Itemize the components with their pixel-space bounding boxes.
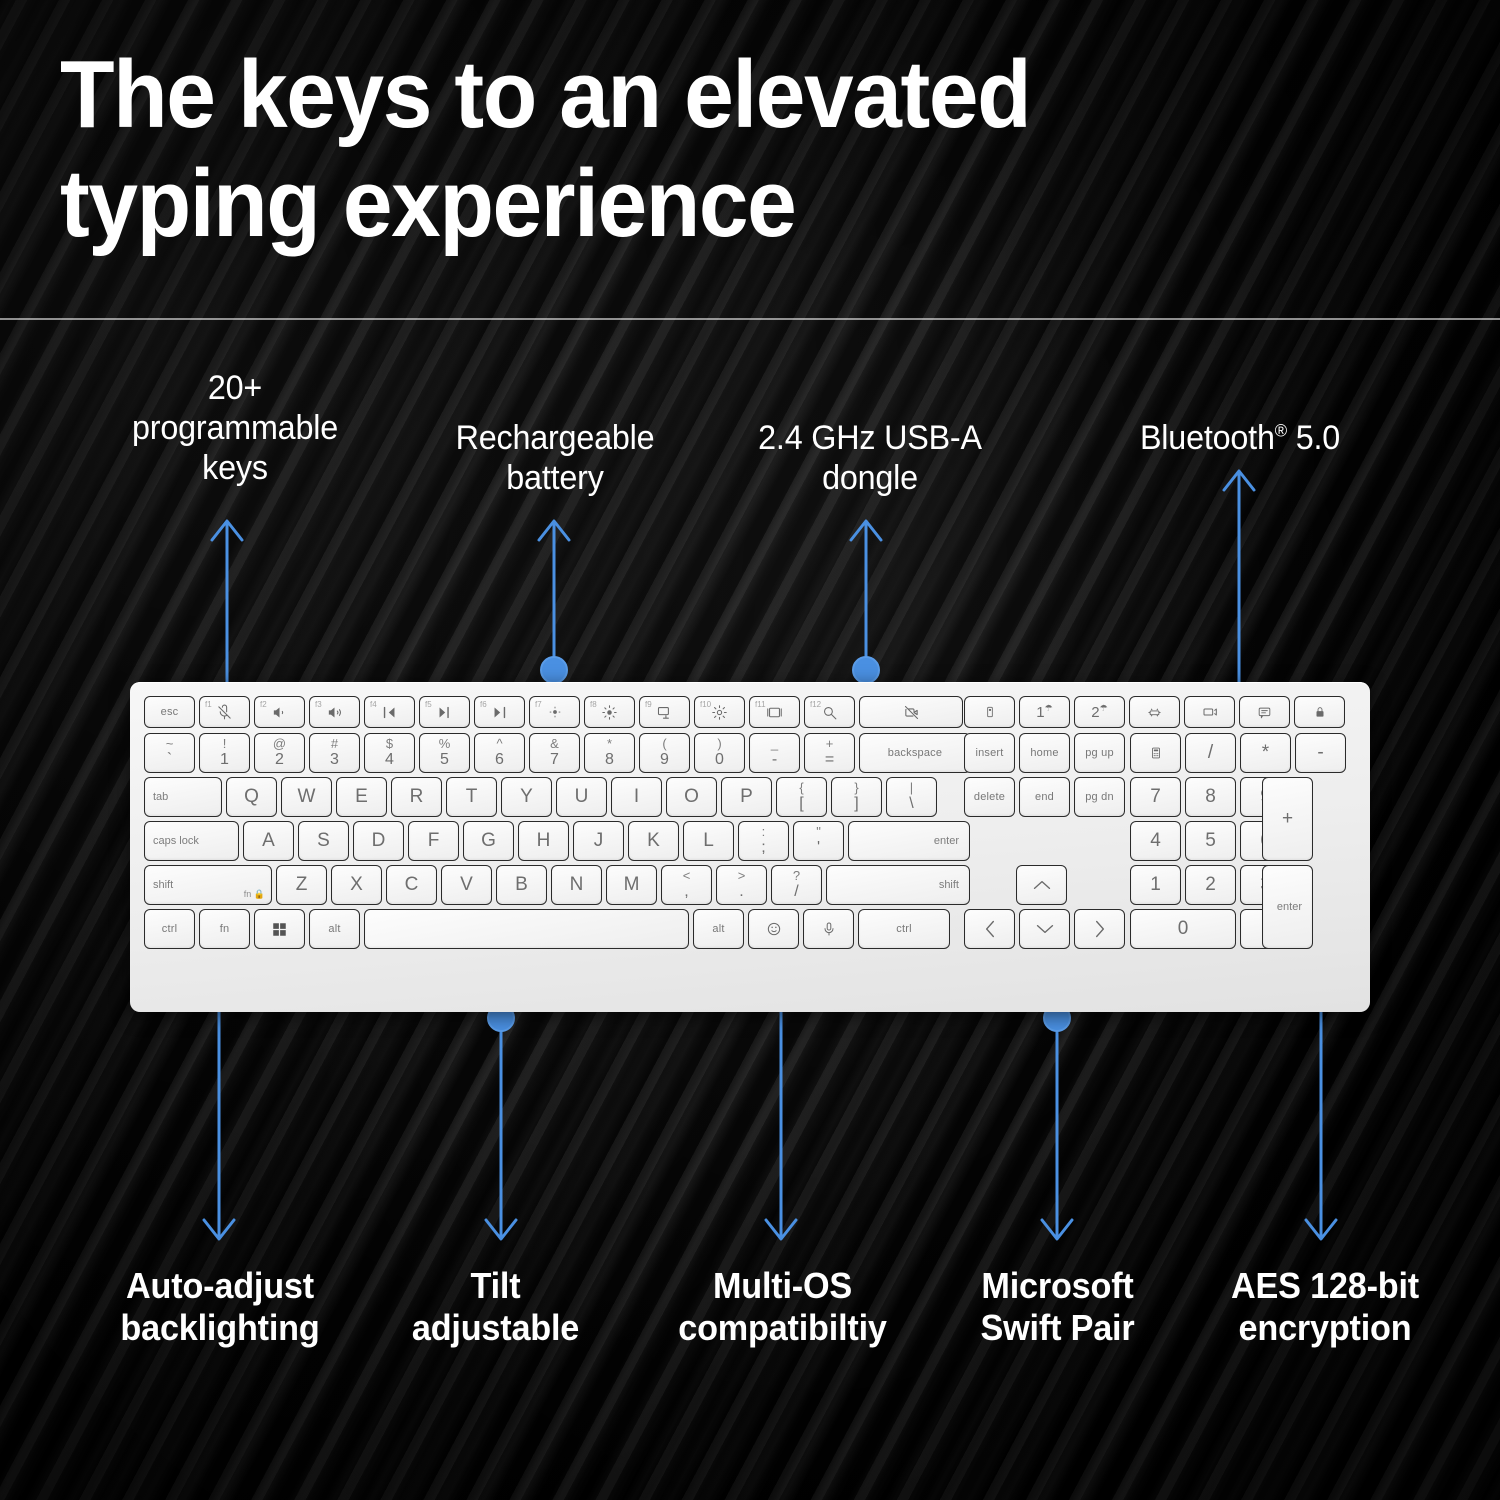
microphone-icon	[821, 921, 837, 937]
key--[interactable]: _-	[749, 733, 800, 773]
fn-label: f1	[205, 700, 212, 709]
key-legend-bottom: 6	[495, 752, 504, 769]
key-letter: 4	[1150, 830, 1161, 852]
key-letter: F	[428, 830, 440, 852]
keyboard-nav-row-insert: inserthomepg up	[964, 733, 1125, 773]
backlight-icon	[1147, 705, 1162, 720]
key-legend-top: $	[386, 737, 393, 751]
key-G[interactable]: G	[463, 821, 514, 861]
key-legend-top: |	[910, 781, 913, 795]
key-label: esc	[161, 706, 179, 718]
key-f5[interactable]: f5	[419, 696, 470, 728]
key-letter: 1	[1150, 874, 1161, 896]
key-label: pg dn	[1085, 791, 1114, 803]
key-arrow-down[interactable]	[1019, 909, 1070, 949]
key-I[interactable]: I	[611, 777, 662, 817]
key-1[interactable]: !1	[199, 733, 250, 773]
windows-icon	[272, 922, 287, 937]
key-arrow-left[interactable]	[964, 909, 1015, 949]
mic-mute-icon	[216, 704, 233, 721]
key-letter: -	[1317, 742, 1323, 764]
key-enter[interactable]: enter	[848, 821, 970, 861]
key-legend-bottom: /	[794, 884, 798, 901]
key-letter: G	[481, 830, 496, 852]
key-letter: 8	[1205, 786, 1216, 808]
key-label: pg up	[1085, 747, 1114, 759]
key-legend-top: "	[816, 825, 821, 839]
key-legend-bottom: ,	[684, 884, 688, 901]
key-X[interactable]: X	[331, 865, 382, 905]
key-numpad-*[interactable]: *	[1240, 733, 1291, 773]
key-legend-top: &	[550, 737, 559, 751]
brightness-down-icon	[548, 705, 562, 719]
key-letter: V	[460, 874, 473, 896]
key-[[interactable]: {[	[776, 777, 827, 817]
key-W[interactable]: W	[281, 777, 332, 817]
key-legend-top: @	[273, 737, 286, 751]
key-S[interactable]: S	[298, 821, 349, 861]
key-semicolon[interactable]: :;	[738, 821, 789, 861]
usb-dongle-icon	[983, 705, 997, 719]
key-numpad-1[interactable]: 1	[1130, 865, 1181, 905]
key-4[interactable]: $4	[364, 733, 415, 773]
key-letter: *	[1262, 742, 1269, 764]
key-legend-top: (	[662, 737, 666, 751]
key-7[interactable]: &7	[529, 733, 580, 773]
key-N[interactable]: N	[551, 865, 602, 905]
key-chat-icon[interactable]	[1239, 696, 1290, 728]
key-end[interactable]: end	[1019, 777, 1070, 817]
key-shift-left[interactable]: shiftfn 🔒	[144, 865, 272, 905]
key-legend-top: ^	[496, 737, 502, 751]
fn-label: f6	[480, 700, 487, 709]
key-letter: P	[740, 786, 753, 808]
key-legend-top: ?	[793, 869, 800, 883]
key-letter: 2	[1205, 874, 1216, 896]
keyboard-bottom-row: ctrlfnaltaltctrl	[144, 909, 950, 949]
key-f12[interactable]: f12	[804, 696, 855, 728]
next-track-icon	[491, 704, 508, 721]
callout-microsoft-swift-pair: Microsoft Swift Pair	[955, 1265, 1159, 1350]
key-delete[interactable]: delete	[964, 777, 1015, 817]
key-letter: H	[537, 830, 551, 852]
key-label: insert	[975, 747, 1003, 759]
key-f6[interactable]: f6	[474, 696, 525, 728]
key-legend-top: )	[717, 737, 721, 751]
key-legend-top: #	[331, 737, 338, 751]
header-divider	[0, 318, 1500, 320]
key-letter: S	[317, 830, 330, 852]
key-O[interactable]: O	[666, 777, 717, 817]
key-numpad-8[interactable]: 8	[1185, 777, 1236, 817]
previous-track-icon	[381, 704, 398, 721]
key-label: ctrl	[162, 923, 177, 935]
key-pg-up[interactable]: pg up	[1074, 733, 1125, 773]
key-usb-dongle-icon[interactable]	[964, 696, 1015, 728]
numpad-plus-key: +	[1262, 777, 1313, 861]
key-microphone-icon[interactable]	[803, 909, 854, 949]
key-ctrl-8[interactable]: ctrl	[858, 909, 950, 949]
key-K[interactable]: K	[628, 821, 679, 861]
key-legend-top: }	[854, 781, 858, 795]
key-legend-top: !	[223, 737, 227, 751]
callout-bluetooth: Bluetooth® 5.0	[1098, 418, 1383, 458]
key-letter: Q	[244, 786, 259, 808]
key-.[interactable]: >.	[716, 865, 767, 905]
arrow-left-icon	[983, 919, 997, 939]
key-label: fn	[220, 923, 230, 935]
key-legend-top: {	[799, 781, 803, 795]
key-numpad-calculator[interactable]	[1130, 733, 1181, 773]
screen-share-icon	[656, 704, 673, 721]
key-f1[interactable]: f1	[199, 696, 250, 728]
gear-icon	[711, 704, 728, 721]
key-letter: T	[466, 786, 478, 808]
key-2[interactable]: @2	[254, 733, 305, 773]
key-6[interactable]: ^6	[474, 733, 525, 773]
key-pg-dn[interactable]: pg dn	[1074, 777, 1125, 817]
camera-mute-icon	[903, 704, 920, 721]
keyboard-number-row: ~`!1@2#3$4%5^6&7*8(9)0_-+=backspace	[144, 733, 971, 773]
key-5[interactable]: %5	[419, 733, 470, 773]
arrow-up-icon	[1032, 878, 1052, 892]
numpad-row-operators: /*-	[1130, 733, 1346, 773]
screenshot-icon	[1202, 704, 1218, 720]
key-legend-top: +	[826, 737, 834, 751]
fn-label: f11	[755, 700, 766, 709]
key-letter: K	[647, 830, 660, 852]
key-numpad-0[interactable]: 0	[1130, 909, 1236, 949]
key-M[interactable]: M	[606, 865, 657, 905]
key-backspace[interactable]: backspace	[859, 733, 971, 773]
key-legend-bottom: =	[825, 752, 834, 769]
key-letter: X	[350, 874, 363, 896]
key-f8[interactable]: f8	[584, 696, 635, 728]
key-numpad-2[interactable]: 2	[1185, 865, 1236, 905]
key-label: alt	[712, 923, 724, 935]
key-letter: 7	[1150, 786, 1161, 808]
key-label: 1☂	[1036, 703, 1052, 721]
key-F[interactable]: F	[408, 821, 459, 861]
key-letter: U	[575, 786, 589, 808]
key-legend-top: <	[683, 869, 691, 883]
key-label: delete	[974, 791, 1005, 803]
key-emoji-icon[interactable]	[748, 909, 799, 949]
key-letter: J	[594, 830, 604, 852]
arrow-down-icon	[1035, 922, 1055, 936]
key-=[interactable]: +=	[804, 733, 855, 773]
arrow-right-icon	[1093, 919, 1107, 939]
callout-programmable-keys: 20+ programmable keys	[97, 368, 373, 488]
key-legend-bottom: 5	[440, 752, 449, 769]
key-legend-bottom: \	[909, 796, 913, 813]
key-f10[interactable]: f10	[694, 696, 745, 728]
key-numpad-enter[interactable]: enter	[1262, 865, 1313, 949]
key-legend-bottom: .	[739, 884, 743, 901]
callout-usb-a-dongle: 2.4 GHz USB-A dongle	[728, 418, 1013, 498]
calculator-icon	[1149, 746, 1163, 760]
key-spacebar[interactable]	[364, 909, 689, 949]
key-bt-1[interactable]: 1☂	[1019, 696, 1070, 728]
key-letter: D	[372, 830, 386, 852]
key-letter: +	[1282, 808, 1293, 830]
keyboard-shift-row: shiftfn 🔒ZXCVBNM<,>.?/shift	[144, 865, 970, 905]
key-legend-bottom: -	[772, 752, 777, 769]
volume-down-icon	[271, 704, 288, 721]
key-shift-right[interactable]: shift	[826, 865, 970, 905]
key-letter: 0	[1178, 918, 1189, 940]
key-legend-top: *	[607, 737, 612, 751]
key-Z[interactable]: Z	[276, 865, 327, 905]
key-legend-bottom: 0	[715, 752, 724, 769]
key-P[interactable]: P	[721, 777, 772, 817]
callout-aes-encryption: AES 128-bit encryption	[1211, 1265, 1439, 1350]
key-letter: L	[703, 830, 714, 852]
key-numpad-7[interactable]: 7	[1130, 777, 1181, 817]
keyboard-function-row-right: 1☂2☂	[964, 696, 1345, 728]
key-alt-5[interactable]: alt	[693, 909, 744, 949]
chat-icon	[1257, 705, 1272, 720]
key-f9[interactable]: f9	[639, 696, 690, 728]
display-icon	[766, 704, 783, 721]
key-label: ctrl	[896, 923, 911, 935]
key-L[interactable]: L	[683, 821, 734, 861]
key-windows-icon[interactable]	[254, 909, 305, 949]
keyboard-arrow-cluster	[964, 909, 1125, 949]
emoji-icon	[766, 921, 782, 937]
key-V[interactable]: V	[441, 865, 492, 905]
key-legend-bottom: 9	[660, 752, 669, 769]
key-letter: /	[1208, 742, 1213, 764]
page-title: The keys to an elevated typing experienc…	[60, 40, 1157, 259]
volume-up-icon	[326, 704, 343, 721]
key-D[interactable]: D	[353, 821, 404, 861]
key-label: caps lock	[153, 835, 199, 847]
key-legend-bottom: 4	[385, 752, 394, 769]
fn-label: f3	[315, 700, 322, 709]
fn-label: f2	[260, 700, 267, 709]
key-label: backspace	[888, 747, 942, 759]
callout-auto-adjust-backlighting: Auto-adjust backlighting	[101, 1265, 339, 1350]
fn-label: f4	[370, 700, 377, 709]
key-A[interactable]: A	[243, 821, 294, 861]
key-numpad-plus[interactable]: +	[1262, 777, 1313, 861]
key-arrow-up[interactable]	[1016, 865, 1067, 905]
key-letter: Y	[520, 786, 533, 808]
key-camera-mute-icon[interactable]	[859, 696, 963, 728]
key-letter: Z	[296, 874, 308, 896]
keyboard-product-image: escf1f2f3f4f5f6f7f8f9f10f11f12 1☂2☂ ~`!1…	[130, 682, 1370, 1012]
key-corner-label: fn 🔒	[244, 889, 265, 900]
key-label: shift	[153, 879, 173, 891]
key-legend-top: :	[762, 825, 766, 839]
key-legend-bottom: 1	[220, 752, 229, 769]
key-3[interactable]: #3	[309, 733, 360, 773]
key-9[interactable]: (9	[639, 733, 690, 773]
key-tab[interactable]: tab	[144, 777, 222, 817]
callout-rechargeable-battery: Rechargeable battery	[417, 418, 693, 498]
key-][interactable]: }]	[831, 777, 882, 817]
key-0[interactable]: )0	[694, 733, 745, 773]
product-feature-infographic: The keys to an elevated typing experienc…	[0, 0, 1500, 1500]
key-legend-top: >	[738, 869, 746, 883]
key-f3[interactable]: f3	[309, 696, 360, 728]
key-legend-top: %	[439, 737, 451, 751]
key-H[interactable]: H	[518, 821, 569, 861]
key-f11[interactable]: f11	[749, 696, 800, 728]
key-label: enter	[1277, 901, 1302, 913]
keyboard-qwerty-row: tabQWERTYUIOP{[}]|\	[144, 777, 937, 817]
fn-label: f10	[700, 700, 711, 709]
key-legend-top: _	[771, 737, 778, 751]
key-fn-1[interactable]: fn	[199, 909, 250, 949]
key-T[interactable]: T	[446, 777, 497, 817]
key-lock-icon[interactable]	[1294, 696, 1345, 728]
key-letter: C	[405, 874, 419, 896]
key-numpad-4[interactable]: 4	[1130, 821, 1181, 861]
key-letter: R	[410, 786, 424, 808]
fn-label: f7	[535, 700, 542, 709]
keyboard-arrow-up	[1016, 865, 1067, 905]
fn-label: f9	[645, 700, 652, 709]
key-ctrl-0[interactable]: ctrl	[144, 909, 195, 949]
key-`[interactable]: ~`	[144, 733, 195, 773]
key-legend-bottom: 7	[550, 752, 559, 769]
key-numpad-/[interactable]: /	[1185, 733, 1236, 773]
callout-tilt-adjustable: Tilt adjustable	[393, 1265, 597, 1350]
key-quote[interactable]: "'	[793, 821, 844, 861]
key-B[interactable]: B	[496, 865, 547, 905]
key-8[interactable]: *8	[584, 733, 635, 773]
callout-multi-os-compatibility: Multi-OS compatibiltiy	[661, 1265, 903, 1350]
key-label: end	[1035, 791, 1054, 803]
key-Y[interactable]: Y	[501, 777, 552, 817]
key-f2[interactable]: f2	[254, 696, 305, 728]
key-J[interactable]: J	[573, 821, 624, 861]
key-\[interactable]: |\	[886, 777, 937, 817]
key-legend-bottom: `	[167, 752, 172, 769]
key-E[interactable]: E	[336, 777, 387, 817]
key-letter: A	[262, 830, 275, 852]
numpad-enter-key: enter	[1262, 865, 1313, 949]
search-icon	[821, 704, 838, 721]
keyboard-home-row: caps lockASDFGHJKL:;"'enter	[144, 821, 970, 861]
fn-label: f12	[810, 700, 821, 709]
key-letter: N	[570, 874, 584, 896]
key-Q[interactable]: Q	[226, 777, 277, 817]
key-f7[interactable]: f7	[529, 696, 580, 728]
keyboard-nav-row-delete: deleteendpg dn	[964, 777, 1125, 817]
key-/[interactable]: ?/	[771, 865, 822, 905]
key-caps-lock[interactable]: caps lock	[144, 821, 239, 861]
key-letter: B	[515, 874, 528, 896]
key-letter: W	[298, 786, 316, 808]
key-arrow-right[interactable]	[1074, 909, 1125, 949]
keyboard-function-row-left: escf1f2f3f4f5f6f7f8f9f10f11f12	[144, 696, 963, 728]
key-legend-bottom: ;	[761, 840, 765, 857]
key-label: alt	[328, 923, 340, 935]
key-label: shift	[939, 879, 959, 891]
key-letter: I	[634, 786, 639, 808]
key-U[interactable]: U	[556, 777, 607, 817]
key-C[interactable]: C	[386, 865, 437, 905]
key-legend-bottom: '	[817, 840, 820, 857]
key-label: enter	[934, 835, 959, 847]
fn-label: f5	[425, 700, 432, 709]
hotspot-usb-a-dongle[interactable]	[852, 656, 880, 684]
key-R[interactable]: R	[391, 777, 442, 817]
key-letter: M	[624, 874, 640, 896]
key-legend-bottom: 8	[605, 752, 614, 769]
key-backlight-icon[interactable]	[1129, 696, 1180, 728]
key-numpad-5[interactable]: 5	[1185, 821, 1236, 861]
key-,[interactable]: <,	[661, 865, 712, 905]
key-letter: 5	[1205, 830, 1216, 852]
key-legend-bottom: 2	[275, 752, 284, 769]
key-home[interactable]: home	[1019, 733, 1070, 773]
key-insert[interactable]: insert	[964, 733, 1015, 773]
key-legend-top: ~	[166, 737, 174, 751]
key-legend-bottom: ]	[854, 796, 858, 813]
key-label: 2☂	[1091, 703, 1107, 721]
key-label: tab	[153, 791, 168, 803]
brightness-up-icon	[601, 704, 618, 721]
play-pause-icon	[436, 704, 453, 721]
key-letter: E	[355, 786, 368, 808]
key-letter: O	[684, 786, 699, 808]
hotspot-rechargeable-battery[interactable]	[540, 656, 568, 684]
key-screenshot-icon[interactable]	[1184, 696, 1235, 728]
lock-icon	[1313, 705, 1327, 719]
key-alt-3[interactable]: alt	[309, 909, 360, 949]
key-legend-bottom: 3	[330, 752, 339, 769]
key-bt-2[interactable]: 2☂	[1074, 696, 1125, 728]
fn-label: f8	[590, 700, 597, 709]
key-numpad--[interactable]: -	[1295, 733, 1346, 773]
key-f4[interactable]: f4	[364, 696, 415, 728]
key-label: home	[1030, 747, 1058, 759]
key-esc[interactable]: esc	[144, 696, 195, 728]
key-legend-bottom: [	[799, 796, 803, 813]
